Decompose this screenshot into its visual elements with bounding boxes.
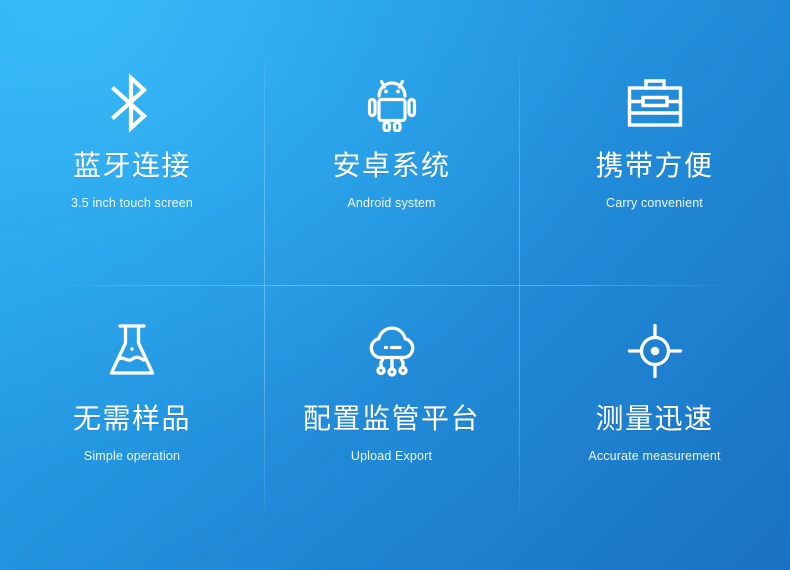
feature-title: 无需样品 <box>73 405 191 433</box>
feature-cell-cloud-platform: 配置监管平台 Upload Export <box>264 285 519 570</box>
feature-subtitle: Android system <box>347 197 435 210</box>
crosshair-target-icon <box>627 321 683 381</box>
feature-cell-flask: 无需样品 Simple operation <box>0 285 264 570</box>
flask-icon <box>107 321 157 381</box>
feature-cell-bluetooth: 蓝牙连接 3.5 inch touch screen <box>0 0 264 285</box>
cloud-network-icon <box>361 321 423 381</box>
feature-subtitle: 3.5 inch touch screen <box>71 197 193 210</box>
feature-subtitle: Simple operation <box>84 450 180 463</box>
toolbox-icon <box>626 72 684 134</box>
feature-subtitle: Accurate measurement <box>588 450 720 463</box>
feature-subtitle: Carry convenient <box>606 197 703 210</box>
feature-board: 蓝牙连接 3.5 inch touch screen <box>0 0 790 570</box>
feature-title: 蓝牙连接 <box>73 152 191 180</box>
android-robot-icon <box>362 72 422 134</box>
feature-cell-measurement: 测量迅速 Accurate measurement <box>519 285 790 570</box>
feature-cell-toolbox: 携带方便 Carry convenient <box>519 0 790 285</box>
feature-title: 安卓系统 <box>332 152 450 180</box>
feature-title: 测量迅速 <box>595 405 713 433</box>
feature-cell-android: 安卓系统 Android system <box>264 0 519 285</box>
bluetooth-icon <box>110 72 154 134</box>
feature-subtitle: Upload Export <box>351 450 432 463</box>
feature-title: 配置监管平台 <box>303 405 480 433</box>
feature-title: 携带方便 <box>595 152 713 180</box>
feature-grid: 蓝牙连接 3.5 inch touch screen <box>0 0 790 570</box>
